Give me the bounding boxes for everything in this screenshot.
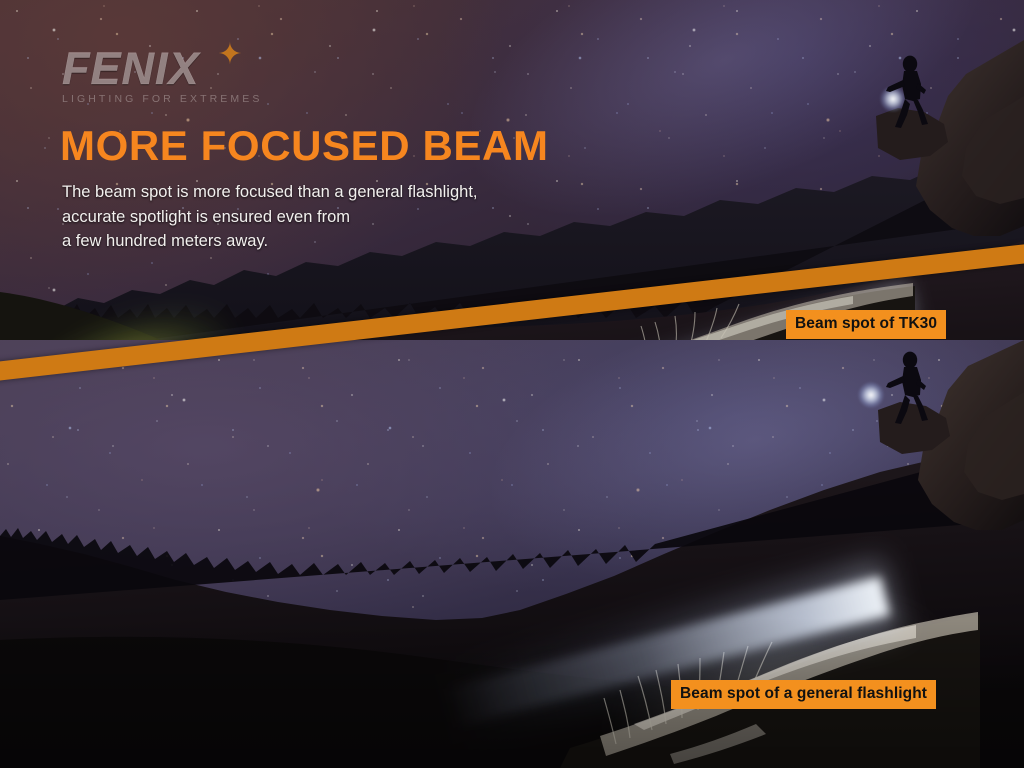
fenix-logo[interactable]: ✦ FENIX LIGHTING FOR EXTREMES: [62, 46, 292, 108]
description-line-2: accurate spotlight is ensured even from: [62, 205, 582, 230]
hiker-silhouette-top: [880, 54, 940, 132]
logo-tagline: LIGHTING FOR EXTREMES: [62, 93, 292, 105]
callout-beam-spot-general: Beam spot of a general flashlight: [671, 680, 936, 709]
description-text: The beam spot is more focused than a gen…: [62, 180, 582, 254]
page-title: MORE FOCUSED BEAM: [60, 122, 549, 170]
description-line-1: The beam spot is more focused than a gen…: [62, 180, 582, 205]
star-icon: ✦: [217, 42, 243, 68]
hiker-silhouette-bottom: [880, 350, 940, 428]
product-feature-poster: ✦ FENIX LIGHTING FOR EXTREMES MORE FOCUS…: [0, 0, 1024, 768]
logo-wordmark: FENIX: [62, 46, 292, 92]
description-line-3: a few hundred meters away.: [62, 229, 582, 254]
callout-beam-spot-tk30: Beam spot of TK30: [786, 310, 946, 339]
